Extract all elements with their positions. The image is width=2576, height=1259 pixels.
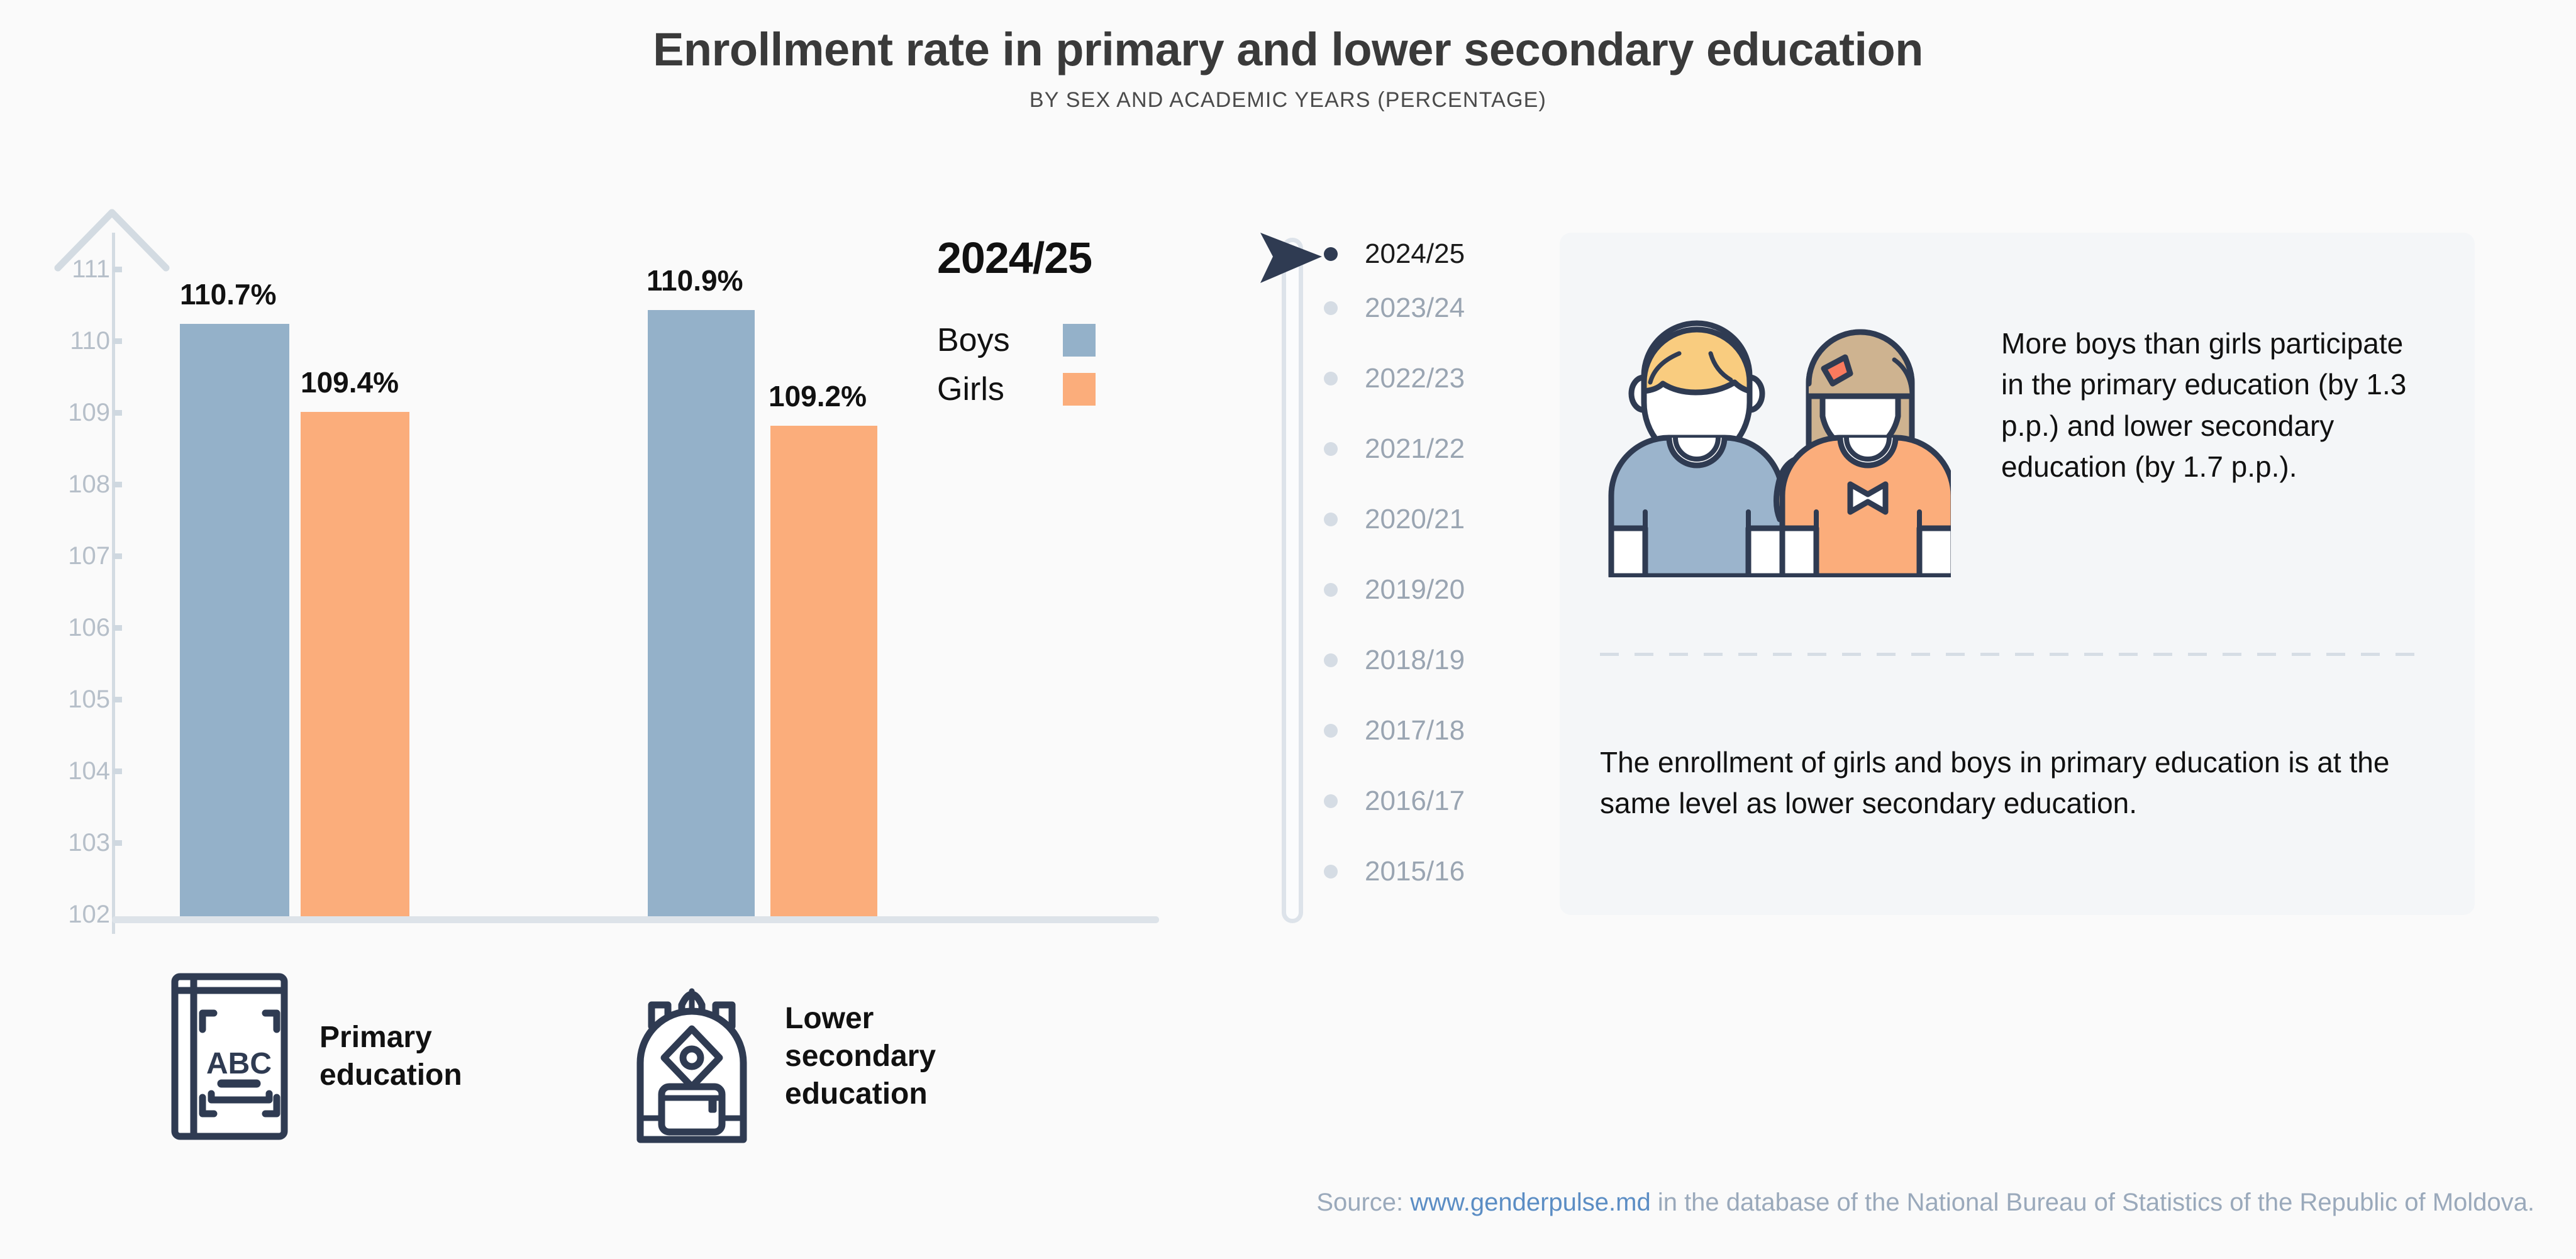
year-label: 2015/16 bbox=[1365, 856, 1465, 887]
year-label: 2017/18 bbox=[1365, 715, 1465, 746]
year-item-2015-16[interactable]: 2015/16 bbox=[1270, 857, 1535, 887]
year-item-2019-20[interactable]: 2019/20 bbox=[1270, 575, 1535, 605]
year-item-2017-18[interactable]: 2017/18 bbox=[1270, 716, 1535, 746]
year-label: 2022/23 bbox=[1365, 363, 1465, 394]
year-label: 2016/17 bbox=[1365, 785, 1465, 817]
legend-selected-year: 2024/25 bbox=[937, 233, 1189, 283]
year-slider[interactable]: 2024/25 2023/24 2022/23 2021/22 2020/21 … bbox=[1270, 226, 1535, 931]
year-item-2016-17[interactable]: 2016/17 bbox=[1270, 786, 1535, 816]
page-title: Enrollment rate in primary and lower sec… bbox=[0, 25, 2576, 74]
bar-value-boys-primary: 110.7% bbox=[180, 277, 276, 311]
source-suffix: in the database of the National Bureau o… bbox=[1651, 1189, 2534, 1216]
legend-swatch-boys bbox=[1063, 324, 1096, 357]
year-label: 2019/20 bbox=[1365, 574, 1465, 606]
year-dot bbox=[1324, 865, 1338, 879]
book-abc-icon: ABC bbox=[170, 972, 289, 1141]
legend-item-boys[interactable]: Boys bbox=[937, 316, 1126, 365]
legend-label-girls: Girls bbox=[937, 370, 1063, 408]
year-dot bbox=[1324, 301, 1338, 315]
legend-label-boys: Boys bbox=[937, 321, 1063, 359]
year-item-2023-24[interactable]: 2023/24 bbox=[1270, 293, 1535, 323]
bar-value-girls-primary: 109.4% bbox=[301, 365, 399, 399]
x-axis-line bbox=[112, 916, 1159, 923]
bar-girls-lower-secondary[interactable] bbox=[770, 426, 877, 916]
year-dot bbox=[1324, 794, 1338, 808]
year-item-2018-19[interactable]: 2018/19 bbox=[1270, 645, 1535, 675]
year-label: 2021/22 bbox=[1365, 433, 1465, 465]
source-prefix: Source: bbox=[1316, 1189, 1410, 1216]
chart-header: Enrollment rate in primary and lower sec… bbox=[0, 25, 2576, 113]
year-item-2020-21[interactable]: 2020/21 bbox=[1270, 504, 1535, 535]
legend-item-girls[interactable]: Girls bbox=[937, 365, 1126, 414]
backpack-icon bbox=[629, 968, 755, 1145]
chart-legend: 2024/25 Boys Girls bbox=[937, 233, 1189, 414]
insight-panel: More boys than girls participate in the … bbox=[1560, 233, 2475, 915]
year-dot bbox=[1324, 372, 1338, 385]
legend-swatch-girls bbox=[1063, 373, 1096, 406]
year-dot bbox=[1324, 724, 1338, 738]
year-dot bbox=[1324, 583, 1338, 597]
bar-value-girls-lower-secondary: 109.2% bbox=[769, 379, 867, 413]
year-dot bbox=[1324, 513, 1338, 526]
category-lower-secondary-education[interactable]: Lower secondary education bbox=[629, 968, 936, 1145]
panel-divider bbox=[1600, 653, 2430, 656]
year-label: 2023/24 bbox=[1365, 292, 1465, 324]
year-label: 2018/19 bbox=[1365, 645, 1465, 676]
year-label: 2024/25 bbox=[1365, 238, 1465, 270]
category-label-lower-secondary: Lower secondary education bbox=[785, 1000, 936, 1113]
page-subtitle: BY SEX AND ACADEMIC YEARS (PERCENTAGE) bbox=[0, 88, 2576, 113]
insight-text-primary: More boys than girls participate in the … bbox=[2001, 301, 2429, 577]
year-dot bbox=[1324, 247, 1338, 261]
year-item-2022-23[interactable]: 2022/23 bbox=[1270, 363, 1535, 394]
bar-value-boys-lower-secondary: 110.9% bbox=[647, 263, 743, 297]
category-label-primary: Primary education bbox=[319, 1019, 462, 1094]
year-label: 2020/21 bbox=[1365, 504, 1465, 535]
insight-text-secondary: The enrollment of girls and boys in prim… bbox=[1600, 742, 2443, 824]
bar-boys-lower-secondary[interactable] bbox=[648, 310, 755, 916]
bar-boys-primary[interactable] bbox=[180, 324, 289, 916]
year-item-2024-25[interactable]: 2024/25 bbox=[1270, 239, 1535, 269]
year-dot bbox=[1324, 653, 1338, 667]
source-footer: Source: www.genderpulse.md in the databa… bbox=[0, 1189, 2534, 1217]
year-dot bbox=[1324, 442, 1338, 456]
bar-girls-primary[interactable] bbox=[301, 412, 409, 916]
book-abc-text: ABC bbox=[206, 1047, 272, 1080]
category-primary-education[interactable]: ABC Primary education bbox=[170, 972, 462, 1141]
boy-and-girl-illustration-icon bbox=[1599, 301, 1951, 577]
year-item-2021-22[interactable]: 2021/22 bbox=[1270, 434, 1535, 464]
source-link[interactable]: www.genderpulse.md bbox=[1410, 1189, 1650, 1216]
